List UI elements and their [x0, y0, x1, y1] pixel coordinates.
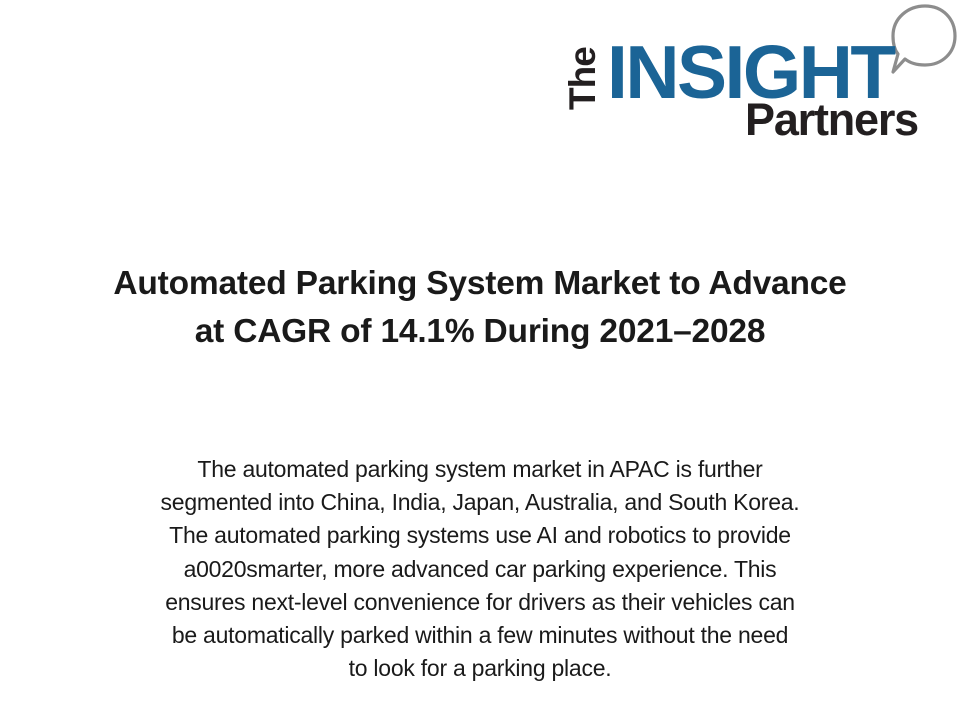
logo-word-partners: Partners [745, 94, 918, 145]
slide-title: Automated Parking System Market to Advan… [60, 260, 900, 356]
slide-body-paragraph: The automated parking system market in A… [100, 453, 860, 685]
brand-logo: The INSIGHT Partners [555, 0, 960, 145]
logo-word-the: The [562, 47, 603, 110]
speech-bubble-outline-icon [893, 6, 955, 72]
slide-canvas: The INSIGHT Partners Automated Parking S… [0, 0, 960, 720]
